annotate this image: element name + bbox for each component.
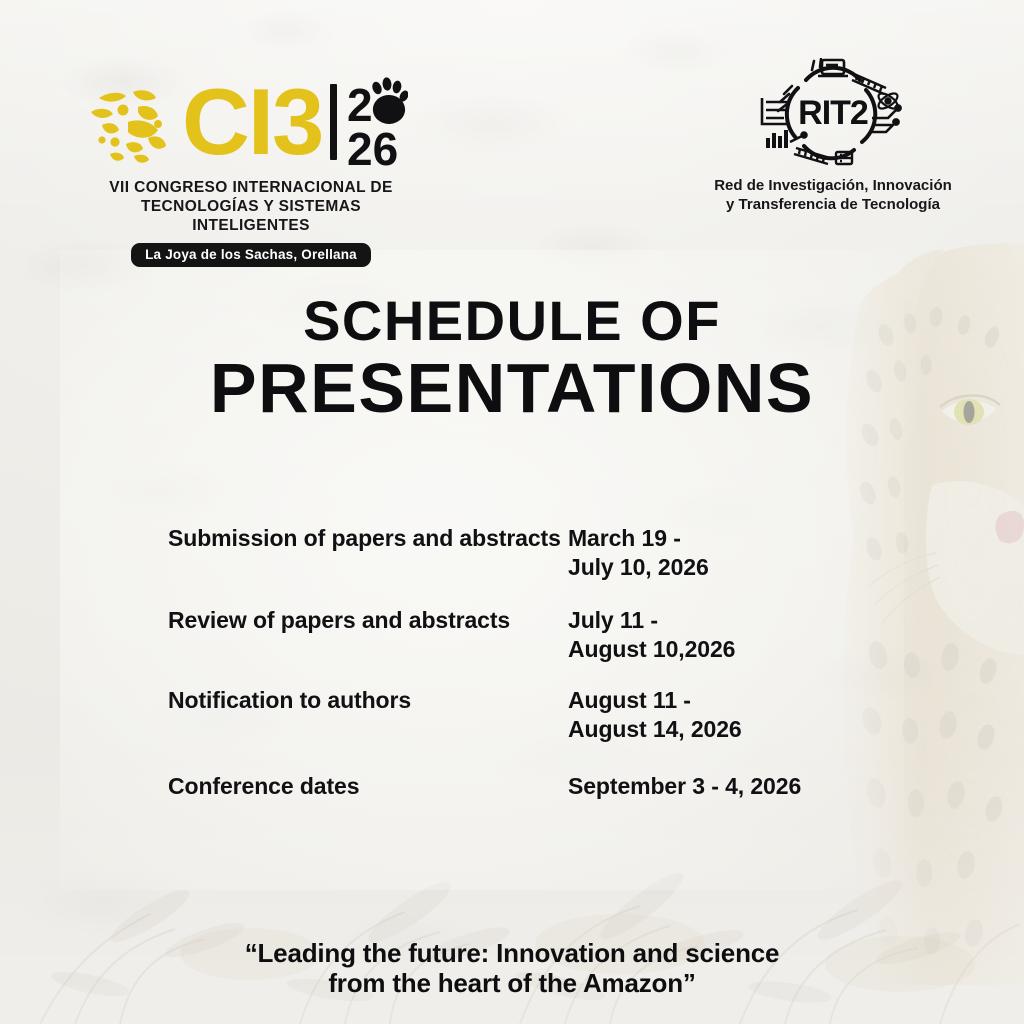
table-row: Submission of papers and abstracts March… <box>168 524 868 582</box>
poster-canvas: CI3 2 26 VII CONGRE <box>0 0 1024 1024</box>
page-title-line1: SCHEDULE OF <box>0 292 1024 350</box>
rit2-circular-tech-icon: RIT2 <box>754 58 912 170</box>
ci3-subtitle: VII CONGRESO INTERNACIONAL DE TECNOLOGÍA… <box>86 178 416 235</box>
table-row: Review of papers and abstracts July 11 -… <box>168 606 868 664</box>
schedule-table: Submission of papers and abstracts March… <box>168 524 868 801</box>
page-title-line2: PRESENTATIONS <box>0 352 1024 424</box>
schedule-item-label: Submission of papers and abstracts <box>168 524 568 553</box>
location-badge: La Joya de los Sachas, Orellana <box>131 243 371 267</box>
svg-text:RIT2: RIT2 <box>798 94 868 132</box>
table-row: Notification to authors August 11 - Augu… <box>168 686 868 744</box>
schedule-item-date: September 3 - 4, 2026 <box>568 772 868 801</box>
schedule-item-date: March 19 - July 10, 2026 <box>568 524 868 582</box>
jaguar-spots-icon <box>86 76 178 168</box>
ci3-logo-row: CI3 2 26 <box>86 72 436 172</box>
schedule-item-date: August 11 - August 14, 2026 <box>568 686 868 744</box>
ci3-location-badge-wrap: La Joya de los Sachas, Orellana <box>86 235 416 267</box>
svg-text:26: 26 <box>347 123 398 167</box>
ci3-wordmark: CI3 <box>182 76 322 168</box>
schedule-item-date: July 11 - August 10,2026 <box>568 606 868 664</box>
rit2-logo: RIT2 Red de Investigación, Innovación y … <box>688 58 978 228</box>
table-row: Conference dates September 3 - 4, 2026 <box>168 772 868 801</box>
ci3-divider <box>330 84 337 160</box>
rit2-subtitle: Red de Investigación, Innovación y Trans… <box>688 176 978 214</box>
rit2-subtitle-line1: Red de Investigación, Innovación <box>688 176 978 195</box>
paw-print-icon <box>371 77 408 124</box>
ci3-subtitle-line2: TECNOLOGÍAS Y SISTEMAS INTELIGENTES <box>86 197 416 235</box>
tagline: “Leading the future: Innovation and scie… <box>0 938 1024 998</box>
rit2-subtitle-line2: y Transferencia de Tecnología <box>688 195 978 214</box>
ci3-year-2026: 2 26 <box>346 77 408 167</box>
poster-header: CI3 2 26 VII CONGRE <box>0 0 1024 260</box>
schedule-item-label: Notification to authors <box>168 686 568 715</box>
ci3-logo: CI3 2 26 VII CONGRE <box>86 72 436 252</box>
schedule-item-label: Conference dates <box>168 772 568 801</box>
schedule-item-label: Review of papers and abstracts <box>168 606 568 635</box>
page-title: SCHEDULE OF PRESENTATIONS <box>0 292 1024 424</box>
ci3-subtitle-line1: VII CONGRESO INTERNACIONAL DE <box>86 178 416 197</box>
